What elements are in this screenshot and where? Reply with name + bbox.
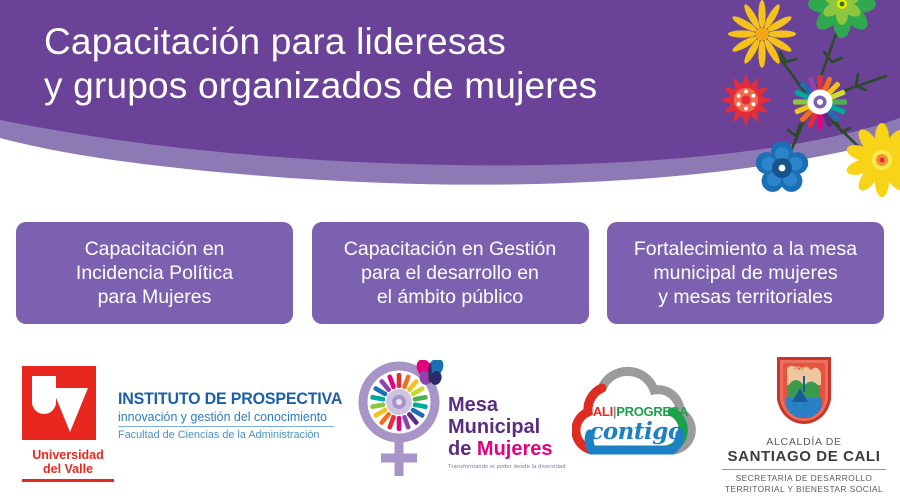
alcaldia-line-2: SANTIAGO DE CALI [718, 448, 890, 465]
progresa-word: PROGRESA [616, 404, 688, 419]
alcaldia-line-1: ALCALDÍA DE [718, 436, 890, 448]
mesa-line-1: Mesa [448, 394, 566, 416]
mesa-line-3-highlight: Mujeres [477, 438, 553, 460]
logo-strip: Universidad del Valle INSTITUTO DE PROSP… [0, 352, 900, 498]
yellow-sun-flower [845, 123, 900, 197]
page-title: Capacitación para lideresas y grupos org… [44, 20, 724, 108]
green-flower [808, 0, 876, 38]
poster-canvas: Capacitación para lideresas y grupos org… [0, 0, 900, 498]
prospectiva-title: INSTITUTO DE PROSPECTIVA [118, 390, 342, 408]
red-flower [720, 74, 772, 126]
mesa-line-3: de Mujeres [448, 438, 566, 460]
header-banner: Capacitación para lideresas y grupos org… [0, 0, 900, 200]
flower-decoration-group [690, 0, 900, 200]
mesa-line-2: Municipal [448, 416, 566, 438]
logo-alcaldia-santiago-de-cali[interactable]: ALCALDÍA DE SANTIAGO DE CALI SECRETARÍA … [718, 354, 890, 494]
prospectiva-subtitle: innovación y gestión del conocimiento [118, 409, 342, 424]
mesa-line-3-prefix: de [448, 438, 477, 460]
cali-coat-of-arms-icon [774, 354, 834, 426]
program-box-gestion-desarrollo[interactable]: Capacitación en Gestión para el desarrol… [312, 222, 589, 324]
program-box-incidencia-politica[interactable]: Capacitación en Incidencia Política para… [16, 222, 293, 324]
blue-flower [756, 141, 808, 192]
prospectiva-faculty: Facultad de Ciencias de la Administració… [118, 429, 342, 442]
cali-word: CALI [584, 404, 613, 419]
mesa-tagline: Transformando el poder desde la diversid… [448, 464, 566, 470]
rainbow-flower [793, 75, 847, 129]
univalle-shield-icon [22, 366, 96, 440]
logo-universidad-del-valle[interactable]: Universidad del Valle [22, 366, 114, 482]
univalle-rule [22, 479, 114, 482]
venus-rainbow-icon [352, 360, 452, 480]
mesa-wordmark: Mesa Municipal de Mujeres Transformando … [448, 394, 566, 470]
cali-wordmark: CALI|PROGRESA contigo [572, 404, 700, 444]
program-boxes: Capacitación en Incidencia Política para… [16, 222, 884, 324]
logo-cali-progresa-contigo[interactable]: CALI|PROGRESA contigo [572, 364, 700, 464]
logo-mesa-municipal-mujeres[interactable]: Mesa Municipal de Mujeres Transformando … [352, 358, 582, 488]
program-box-mesa-municipal[interactable]: Fortalecimiento a la mesa municipal de m… [607, 222, 884, 324]
cali-progresa-line: CALI|PROGRESA [572, 404, 700, 419]
logo-instituto-prospectiva[interactable]: INSTITUTO DE PROSPECTIVA innovación y ge… [118, 390, 349, 442]
contigo-word: contigo [572, 420, 700, 444]
yellow-daisy-flower [728, 0, 796, 68]
prospectiva-divider [118, 426, 334, 427]
alcaldia-divider [722, 469, 886, 470]
alcaldia-secretaria: SECRETARÍA DE DESARROLLO TERRITORIAL Y B… [718, 473, 890, 494]
univalle-name: Universidad del Valle [22, 448, 114, 476]
